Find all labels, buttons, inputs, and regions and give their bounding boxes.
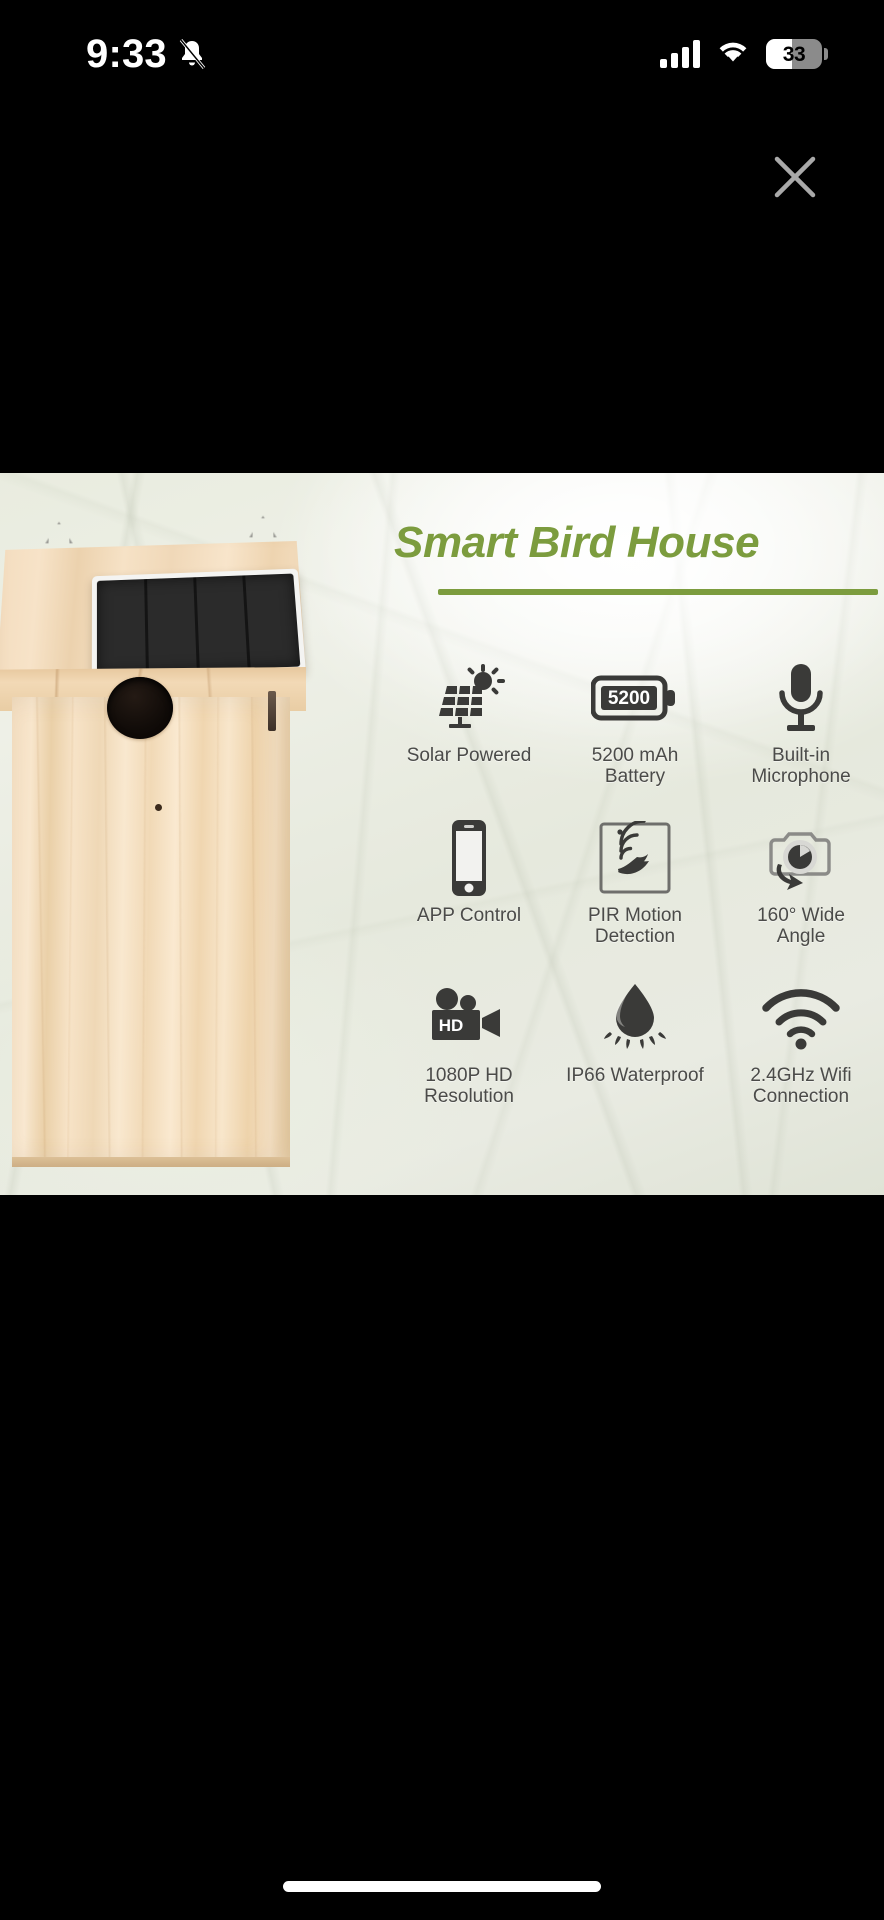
pir-motion-bird-icon [598,815,672,901]
feature-label: 1080P HDResolution [424,1065,514,1108]
feature-hd-resolution: HD 1080P HDResolution [386,975,552,1131]
bird-entrance-hole [107,677,173,739]
bird-house-illustration [0,491,362,1171]
solar-panel-icon [431,655,507,741]
product-title: Smart Bird House [394,521,880,565]
feature-label: 5200 mAhBattery [592,745,679,788]
feature-label: PIR MotionDetection [588,905,682,948]
banner-content: Smart Bird House [386,473,884,1195]
feature-solar-powered: Solar Powered [386,655,552,811]
hd-badge-text: HD [439,1016,464,1035]
wide-angle-camera-icon [761,815,841,901]
feature-label: 2.4GHz WifiConnection [750,1065,851,1108]
bell-slash-icon [177,37,207,71]
status-bar-left: 9:33 [86,34,207,74]
home-indicator[interactable] [283,1881,601,1892]
feature-app-control: APP Control [386,815,552,971]
feature-label: APP Control [417,905,521,926]
water-droplet-icon [592,975,678,1061]
feature-microphone: Built-inMicrophone [718,655,884,811]
feature-pir-motion: PIR MotionDetection [552,815,718,971]
solar-panel [92,569,306,681]
battery-indicator: 33 [766,39,822,69]
wifi-signal-icon [758,975,844,1061]
status-time: 9:33 [86,34,167,74]
microphone-icon [770,655,832,741]
status-bar: 9:33 [0,0,884,108]
title-underline [438,589,878,595]
bird-house-body [12,697,290,1163]
feature-battery: 5200 5200 mAhBattery [552,655,718,811]
feature-grid: Solar Powered 5200 5200 mAhBattery [386,655,884,1131]
cellular-signal-icon [660,40,700,68]
hanging-hook-right-icon [249,516,276,538]
wifi-icon [716,39,750,70]
close-button[interactable] [766,148,824,206]
battery-cap-icon [824,48,828,60]
product-image[interactable]: Smart Bird House [0,473,884,1195]
camera-pinhole [155,804,162,811]
side-latch [268,691,276,731]
feature-wide-angle: 160° WideAngle [718,815,884,971]
phone-screen: 9:33 [0,0,884,1920]
battery-percent-label: 33 [783,44,806,65]
hanging-hook-left-icon [45,522,72,544]
feature-label: Solar Powered [407,745,532,766]
smartphone-icon [443,815,495,901]
feature-label: 160° WideAngle [757,905,845,948]
feature-wifi: 2.4GHz WifiConnection [718,975,884,1131]
hd-camcorder-icon: HD [426,975,512,1061]
bird-house-base [12,1157,290,1167]
feature-label: IP66 Waterproof [566,1065,704,1086]
battery-badge-text: 5200 [608,688,650,709]
feature-label: Built-inMicrophone [751,745,850,788]
battery-5200-icon: 5200 [591,655,679,741]
feature-waterproof: IP66 Waterproof [552,975,718,1131]
status-bar-right: 33 [660,39,822,70]
